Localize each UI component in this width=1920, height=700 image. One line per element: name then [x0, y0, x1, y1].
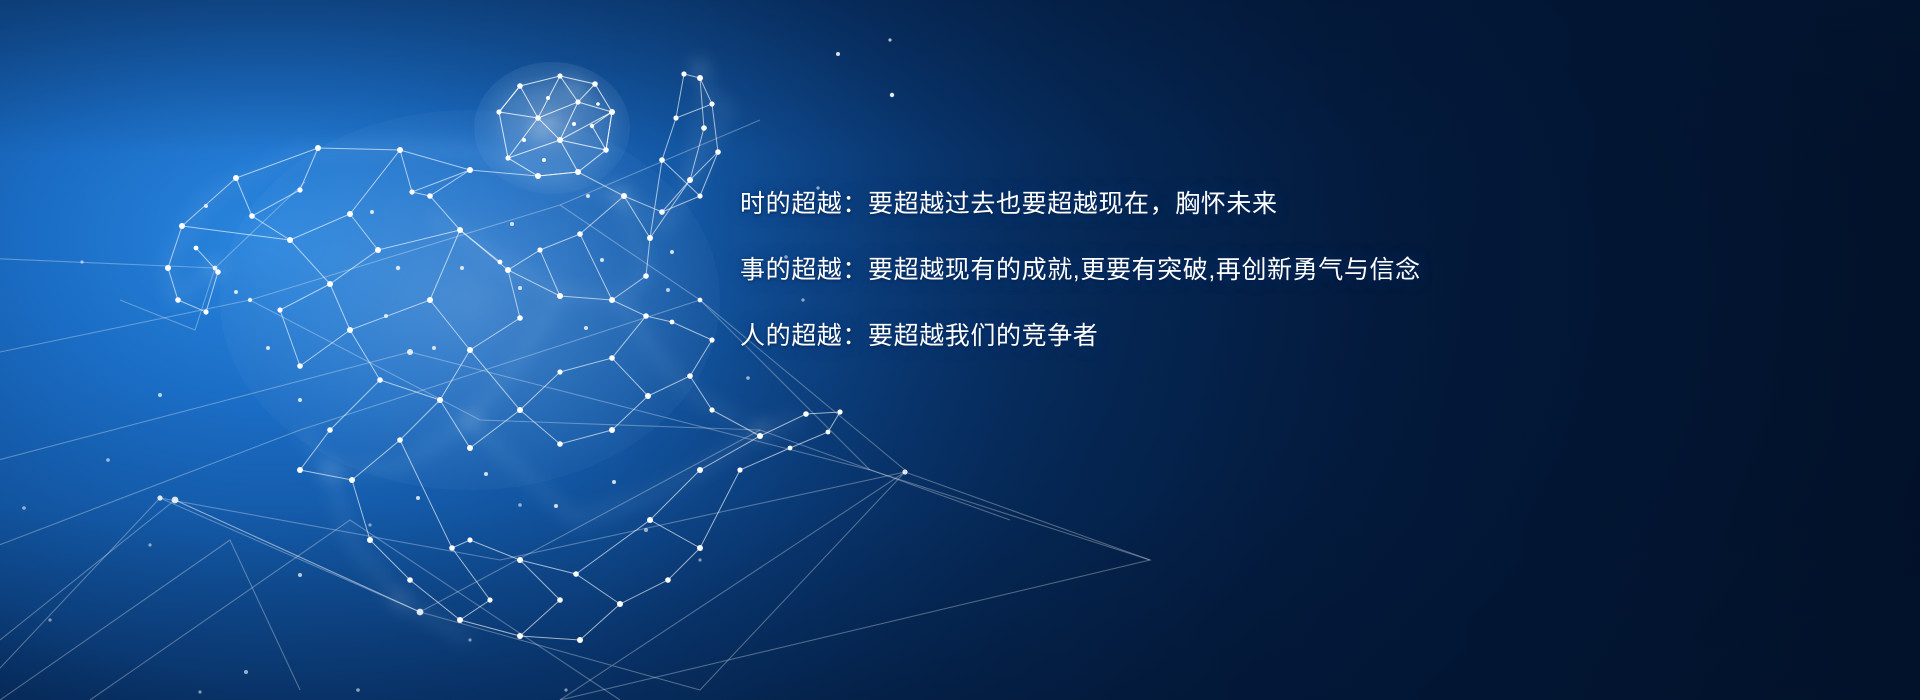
- slogan-text-block: 时的超越：要超越过去也要超越现在，胸怀未来 事的超越：要超越现有的成就,更要有突…: [740, 192, 1500, 349]
- slogan-line-2: 事的超越：要超越现有的成就,更要有突破,再创新勇气与信念: [740, 258, 1500, 283]
- hero-banner: 时的超越：要超越过去也要超越现在，胸怀未来 事的超越：要超越现有的成就,更要有突…: [0, 0, 1920, 700]
- runner-figure: [0, 0, 1920, 700]
- slogan-line-3: 人的超越：要超越我们的竞争者: [740, 324, 1500, 349]
- slogan-line-1: 时的超越：要超越过去也要超越现在，胸怀未来: [740, 192, 1500, 217]
